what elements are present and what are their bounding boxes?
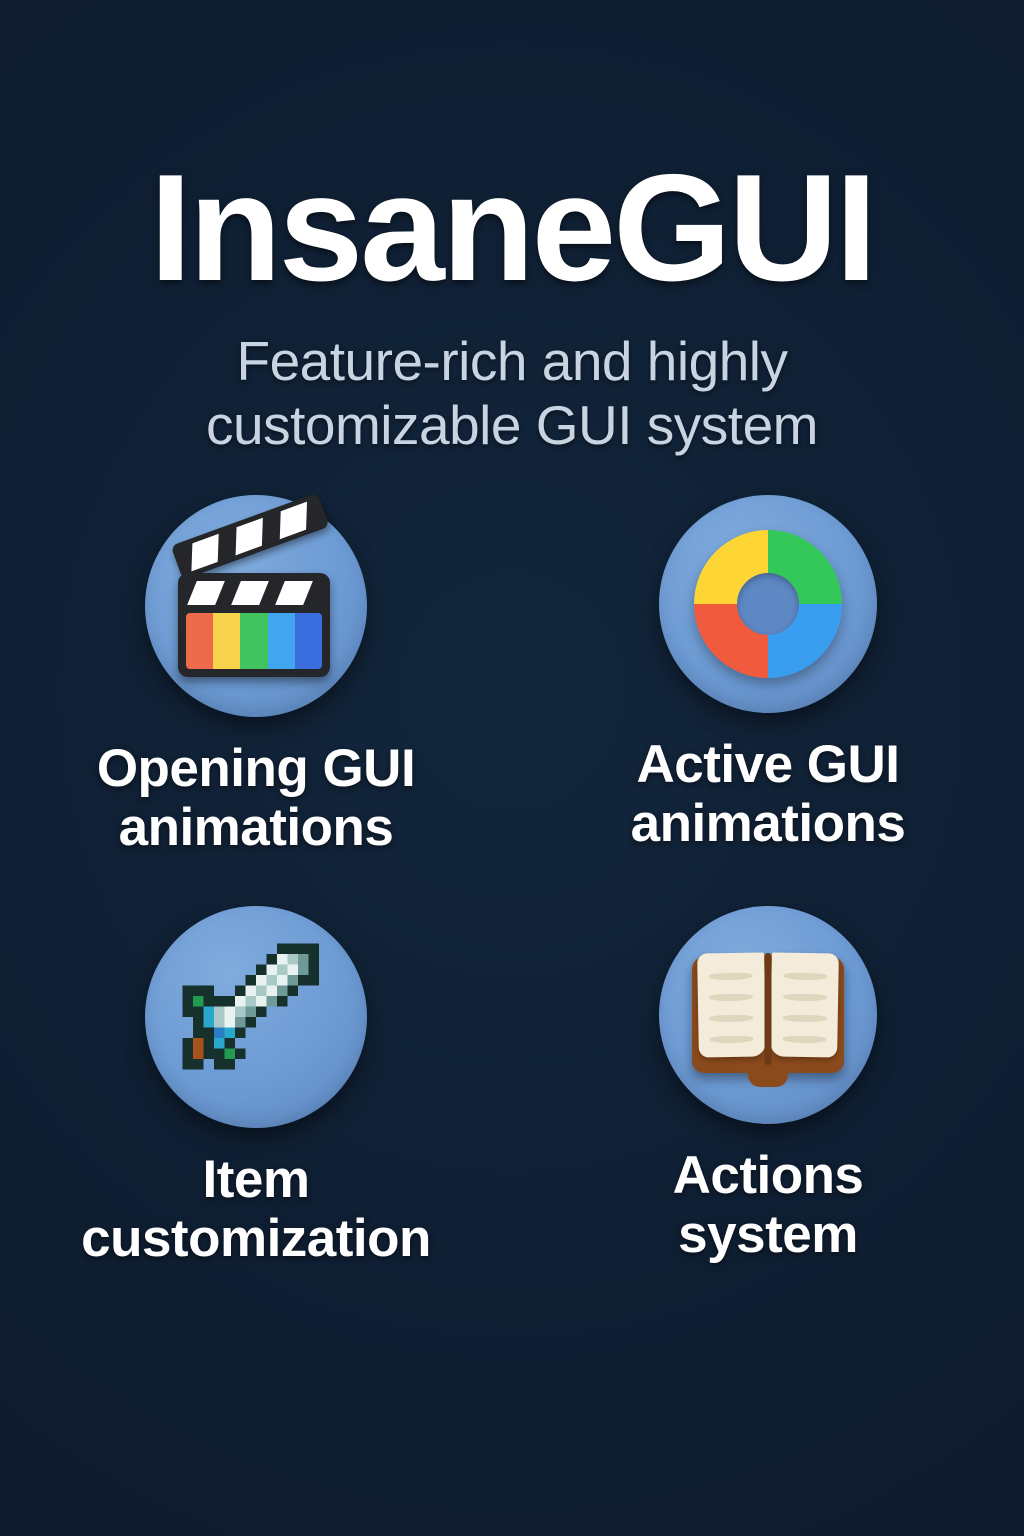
feature-label: Opening GUI animations [97, 739, 415, 858]
book-spine [765, 953, 772, 1065]
feature-label: Actions system [673, 1146, 864, 1265]
feature-label-line-2: system [673, 1205, 864, 1264]
page-subtitle: Feature-rich and highly customizable GUI… [0, 330, 1024, 458]
subtitle-line-2: customizable GUI system [206, 394, 818, 456]
book-bottom-notch [748, 1067, 788, 1087]
poster-header: InsaneGUI Feature-rich and highly custom… [0, 0, 1024, 458]
clapperboard-icon [178, 535, 334, 677]
feature-item-item-customization[interactable]: Item customization [0, 906, 512, 1269]
clapper-color-stripes [186, 613, 322, 669]
feature-item-active-gui-animations[interactable]: Active GUI animations [512, 495, 1024, 858]
book-page-left [697, 952, 766, 1057]
feature-label-line-1: Opening GUI [97, 739, 415, 798]
feature-item-opening-gui-animations[interactable]: Opening GUI animations [0, 495, 512, 858]
poster-canvas: InsaneGUI Feature-rich and highly custom… [0, 0, 1024, 1536]
donut-center-hole [737, 573, 799, 635]
icon-disc [145, 906, 367, 1128]
subtitle-line-1: Feature-rich and highly [236, 330, 787, 392]
open-book-icon [692, 953, 844, 1077]
feature-label-line-2: customization [81, 1209, 431, 1268]
page-title: InsaneGUI [0, 152, 1024, 304]
feature-label: Item customization [81, 1150, 431, 1269]
icon-disc [659, 495, 877, 713]
clapper-top-bar [171, 493, 330, 580]
feature-label-line-2: animations [631, 794, 906, 853]
feature-label-line-2: animations [97, 798, 415, 857]
donut-chart-icon [694, 530, 842, 678]
icon-disc [145, 495, 367, 717]
book-page-right [770, 952, 839, 1057]
feature-label: Active GUI animations [631, 735, 906, 854]
feature-label-line-1: Actions [673, 1146, 864, 1205]
feature-label-line-1: Item [203, 1150, 310, 1209]
icon-disc [659, 906, 877, 1124]
feature-label-line-1: Active GUI [636, 735, 899, 794]
clapper-body [178, 573, 330, 677]
feature-grid: Opening GUI animations Active GUI animat… [0, 495, 1024, 1268]
feature-item-actions-system[interactable]: Actions system [512, 906, 1024, 1269]
diamond-sword-icon [172, 933, 340, 1101]
